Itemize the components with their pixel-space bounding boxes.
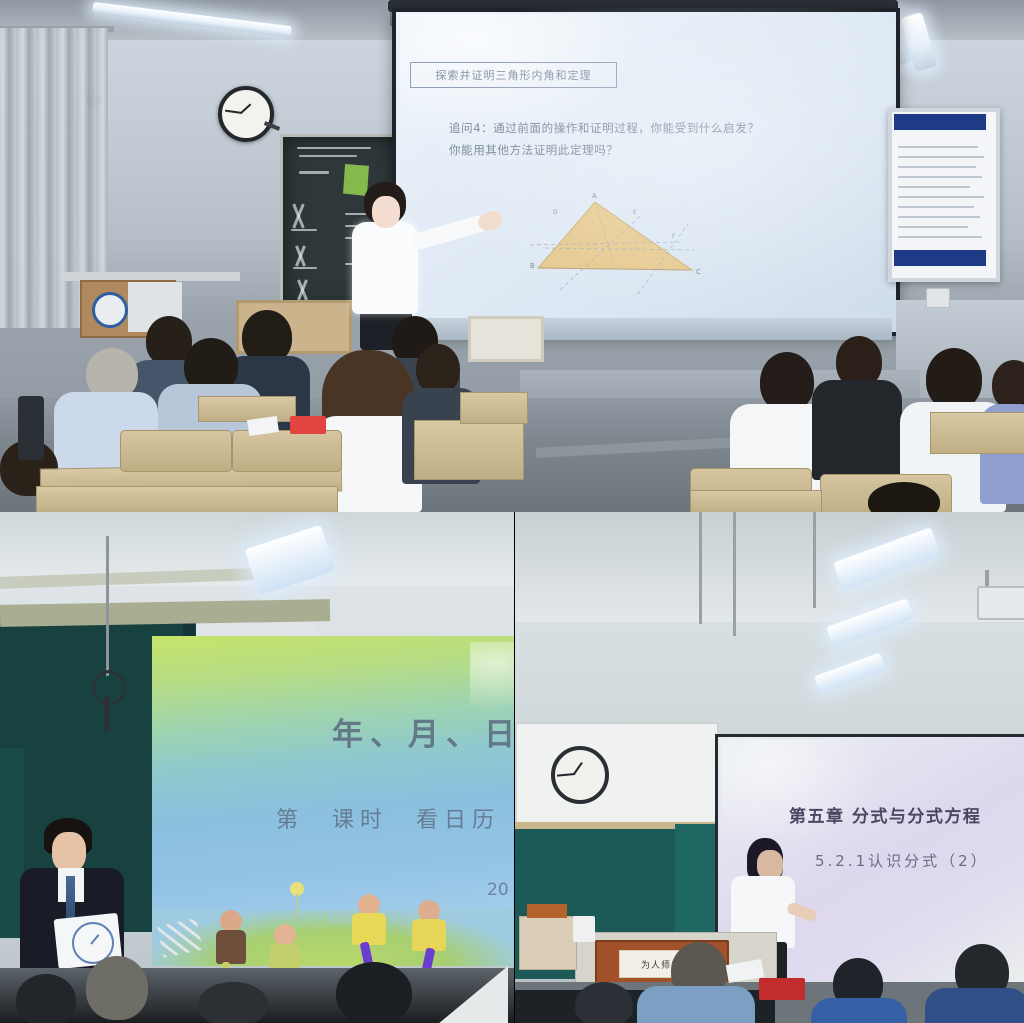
- slide-title: 年、月、日: [332, 709, 514, 754]
- screen-lower-wall: [392, 318, 892, 340]
- cardboard-box: [527, 904, 567, 918]
- attendee-torso: [637, 986, 755, 1023]
- student-desk: [460, 392, 528, 424]
- geometry-lesson-panel: 探索并证明三角形内角和定理 追问4：通过前面的操作和证明过程，你能受到什么启发？…: [0, 0, 1024, 512]
- attendee-head: [416, 344, 460, 394]
- windmill-pole: [296, 894, 298, 918]
- student-head: [926, 348, 982, 410]
- attendee-head: [336, 962, 412, 1023]
- projector-icon: [977, 586, 1024, 620]
- slide-title: 第五章 分式与分式方程: [789, 802, 981, 827]
- ceiling: [515, 512, 1024, 622]
- red-booklet: [290, 416, 326, 434]
- school-emblem-icon: [92, 292, 128, 328]
- teacher-face: [372, 196, 400, 228]
- hanging-wire: [813, 512, 816, 608]
- student-desk: [36, 486, 338, 512]
- chair-back: [232, 430, 342, 472]
- whiteboard-strip: [515, 722, 719, 826]
- teacher-blouse: [352, 222, 418, 314]
- wall-switch[interactable]: [926, 288, 950, 308]
- projector-haze: [392, 8, 892, 328]
- calendar-lesson-panel: 年、月、日 第 课时 看日历 20: [0, 512, 514, 1023]
- attendee-head: [575, 982, 633, 1023]
- student-head: [760, 352, 814, 412]
- thermos-bottle: [18, 396, 44, 460]
- teacher-face: [52, 832, 86, 872]
- fraction-lesson-panel: 第五章 分式与分式方程 5.2.1认识分式（2） 为人师表: [515, 512, 1024, 1023]
- student-desk: [198, 396, 296, 422]
- wall-clock-icon: [218, 86, 274, 142]
- poster-header-bar: [894, 114, 986, 130]
- slide-glare: [470, 642, 514, 712]
- wall-frame: [468, 316, 544, 362]
- classroom-collage: 探索并证明三角形内角和定理 追问4：通过前面的操作和证明过程，你能受到什么启发？…: [0, 0, 1024, 1023]
- slide-subtitle: 第 课时 看日历: [276, 802, 500, 834]
- hanging-wire: [699, 512, 702, 624]
- chair-back: [120, 430, 232, 472]
- hanging-wire: [733, 512, 736, 636]
- attendee-head: [86, 956, 148, 1020]
- attendee-head: [198, 982, 268, 1023]
- attendee-head: [16, 974, 76, 1023]
- sticky-note-icon: [343, 164, 369, 196]
- student-desk: [690, 490, 822, 512]
- side-box: [519, 916, 577, 970]
- poster-footer-bar: [894, 250, 986, 266]
- white-container: [573, 916, 595, 942]
- student-desk: [414, 420, 524, 480]
- student-head: [992, 360, 1024, 410]
- student-torso: [812, 380, 902, 480]
- attendee-torso: [925, 988, 1024, 1023]
- hook-stem: [104, 696, 110, 732]
- hanging-rod: [106, 536, 109, 676]
- attendee-torso: [811, 998, 907, 1023]
- slide-subtitle: 5.2.1认识分式（2）: [815, 850, 989, 871]
- slide-corner-text: 20: [487, 880, 509, 900]
- slide-glare: [721, 740, 881, 850]
- red-folder: [759, 978, 805, 1000]
- student-desk: [930, 412, 1024, 454]
